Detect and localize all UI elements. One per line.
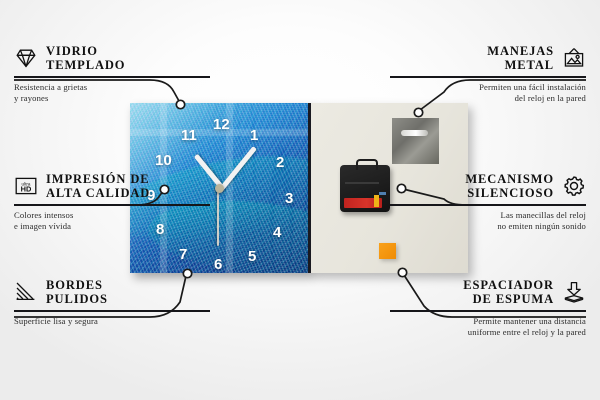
feature-title-line1: MECANISMO <box>465 172 554 186</box>
feature-espaciador-de-espuma: ESPACIADOR DE ESPUMA Permite mantener un… <box>390 278 586 338</box>
polished-edges-icon <box>14 280 38 304</box>
feature-subtitle-line2: uniforme entre el reloj y la pared <box>390 327 586 338</box>
feature-subtitle-line1: Superficie lisa y segura <box>14 316 210 327</box>
connector-dot-manejas <box>414 108 422 116</box>
feature-vidrio-templado: VIDRIO TEMPLADO Resistencia a grietas y … <box>14 44 210 104</box>
feature-subtitle-line2: del reloj en la pared <box>390 93 586 104</box>
connector-dot-bordes <box>183 269 191 277</box>
feature-divider <box>14 204 210 206</box>
feature-subtitle-line1: Colores intensos <box>14 210 210 221</box>
feature-title-line2: METAL <box>487 58 554 72</box>
feature-divider <box>14 76 210 78</box>
foam-spacer-arrow-icon <box>562 280 586 304</box>
feature-manejas-metal: MANEJAS METAL Permiten una fácil instala… <box>390 44 586 104</box>
feature-divider <box>390 204 586 206</box>
gear-icon <box>562 174 586 198</box>
feature-title-line2: ALTA CALIDAD <box>46 186 150 200</box>
feature-title-line1: ESPACIADOR <box>463 278 554 292</box>
ultra-hd-icon: ultra HD <box>14 174 38 198</box>
connector-dot-espaciador <box>398 268 406 276</box>
feature-title-line2: SILENCIOSO <box>465 186 554 200</box>
feature-title-line2: DE ESPUMA <box>463 292 554 306</box>
feature-title-line2: PULIDOS <box>46 292 108 306</box>
feature-subtitle-line1: Permiten una fácil instalación <box>390 82 586 93</box>
infographic-canvas: 12 1 2 3 4 5 6 7 8 9 10 11 <box>0 0 600 400</box>
feature-subtitle-line1: Resistencia a grietas <box>14 82 210 93</box>
picture-frame-hanger-icon <box>562 46 586 70</box>
feature-impresion-alta-calidad: ultra HD IMPRESIÓN DE ALTA CALIDAD Color… <box>14 172 210 232</box>
feature-bordes-pulidos: BORDES PULIDOS Superficie lisa y segura <box>14 278 210 327</box>
feature-title-line1: IMPRESIÓN DE <box>46 172 150 186</box>
feature-title-line1: MANEJAS <box>487 44 554 58</box>
feature-subtitle-line1: Las manecillas del reloj <box>390 210 586 221</box>
feature-mecanismo-silencioso: MECANISMO SILENCIOSO Las manecillas del … <box>390 172 586 232</box>
feature-subtitle-line2: e imagen vívida <box>14 221 210 232</box>
feature-subtitle-line2: no emiten ningún sonido <box>390 221 586 232</box>
svg-text:HD: HD <box>21 185 32 194</box>
feature-divider <box>390 76 586 78</box>
feature-title-line2: TEMPLADO <box>46 58 125 72</box>
feature-divider <box>14 310 210 312</box>
feature-title-line1: BORDES <box>46 278 108 292</box>
diamond-icon <box>14 46 38 70</box>
feature-subtitle-line1: Permite mantener una distancia <box>390 316 586 327</box>
feature-divider <box>390 310 586 312</box>
feature-title-line1: VIDRIO <box>46 44 125 58</box>
feature-subtitle-line2: y rayones <box>14 93 210 104</box>
